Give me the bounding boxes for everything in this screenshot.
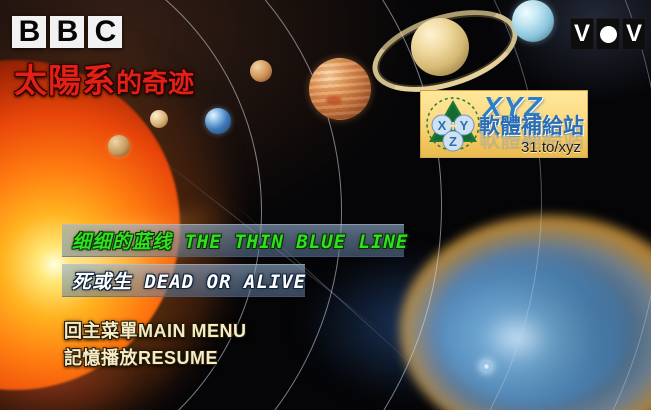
bbc-letter-b2: B bbox=[50, 16, 84, 48]
planet-uranus bbox=[512, 0, 554, 42]
menu-item-episode-2-label: 死或生 DEAD OR ALIVE bbox=[72, 267, 306, 294]
menu-item-main-menu-label-cn: 回主菜單 bbox=[64, 321, 138, 342]
bbc-logo: B B C bbox=[12, 16, 122, 48]
menu-item-resume[interactable]: 記憶播放RESUME bbox=[64, 344, 218, 370]
series-title-suffix: 的奇迹 bbox=[116, 69, 194, 99]
menu-item-resume-label-en: RESUME bbox=[138, 348, 218, 368]
vov-letter-v1-glyph: V bbox=[571, 19, 593, 49]
vov-letter-v2-glyph: V bbox=[623, 19, 645, 49]
svg-text:+: + bbox=[448, 118, 457, 135]
bbc-letter-c: C bbox=[88, 16, 122, 48]
vov-letter-o bbox=[596, 18, 620, 50]
series-title-main: 太陽系 bbox=[14, 61, 116, 100]
svg-text:Z: Z bbox=[449, 134, 457, 149]
bbc-letter-b1: B bbox=[12, 16, 46, 48]
xyz-watermark-banner: X Y Z + 軟體補給站 XYZ 軟體補給站 31.to/xyz bbox=[420, 90, 588, 158]
menu-item-episode-1-label-cn: 细细的蓝线 bbox=[72, 231, 172, 253]
dvd-menu-screen: B B C 太陽系的奇迹 V V X Y Z + 軟體補給 bbox=[0, 0, 651, 410]
planet-mercury bbox=[108, 135, 130, 157]
planet-earth bbox=[205, 108, 231, 134]
menu-item-episode-2[interactable]: 死或生 DEAD OR ALIVE bbox=[62, 264, 305, 297]
xyz-url: 31.to/xyz bbox=[521, 139, 581, 156]
menu-item-episode-1-label: 细细的蓝线 THE THIN BLUE LINE bbox=[72, 227, 408, 254]
xyz-shield-icon: X Y Z + bbox=[425, 96, 481, 152]
planet-mars bbox=[250, 60, 272, 82]
vov-letter-v1: V bbox=[570, 18, 594, 50]
xyz-name-cn: 軟體補給站 bbox=[479, 115, 584, 137]
svg-text:X: X bbox=[438, 118, 447, 133]
menu-item-episode-1-label-en: THE THIN BLUE LINE bbox=[184, 231, 408, 253]
menu-item-episode-1[interactable]: 细细的蓝线 THE THIN BLUE LINE bbox=[62, 224, 404, 257]
menu-item-episode-2-label-en: DEAD OR ALIVE bbox=[144, 271, 306, 293]
jupiter-great-red-spot bbox=[326, 96, 342, 105]
planet-jupiter bbox=[309, 58, 371, 120]
vov-circle-icon bbox=[600, 26, 617, 43]
vov-letter-v2: V bbox=[622, 18, 646, 50]
menu-item-main-menu[interactable]: 回主菜單MAIN MENU bbox=[64, 317, 247, 343]
vov-logo: V V bbox=[570, 18, 646, 50]
menu-item-resume-label-cn: 記憶播放 bbox=[64, 348, 138, 369]
page-title: 太陽系的奇迹 bbox=[14, 54, 194, 102]
planet-venus bbox=[150, 110, 168, 128]
menu-item-main-menu-label-en: MAIN MENU bbox=[138, 321, 247, 341]
svg-text:Y: Y bbox=[460, 118, 469, 133]
menu-item-episode-2-label-cn: 死或生 bbox=[72, 271, 132, 293]
